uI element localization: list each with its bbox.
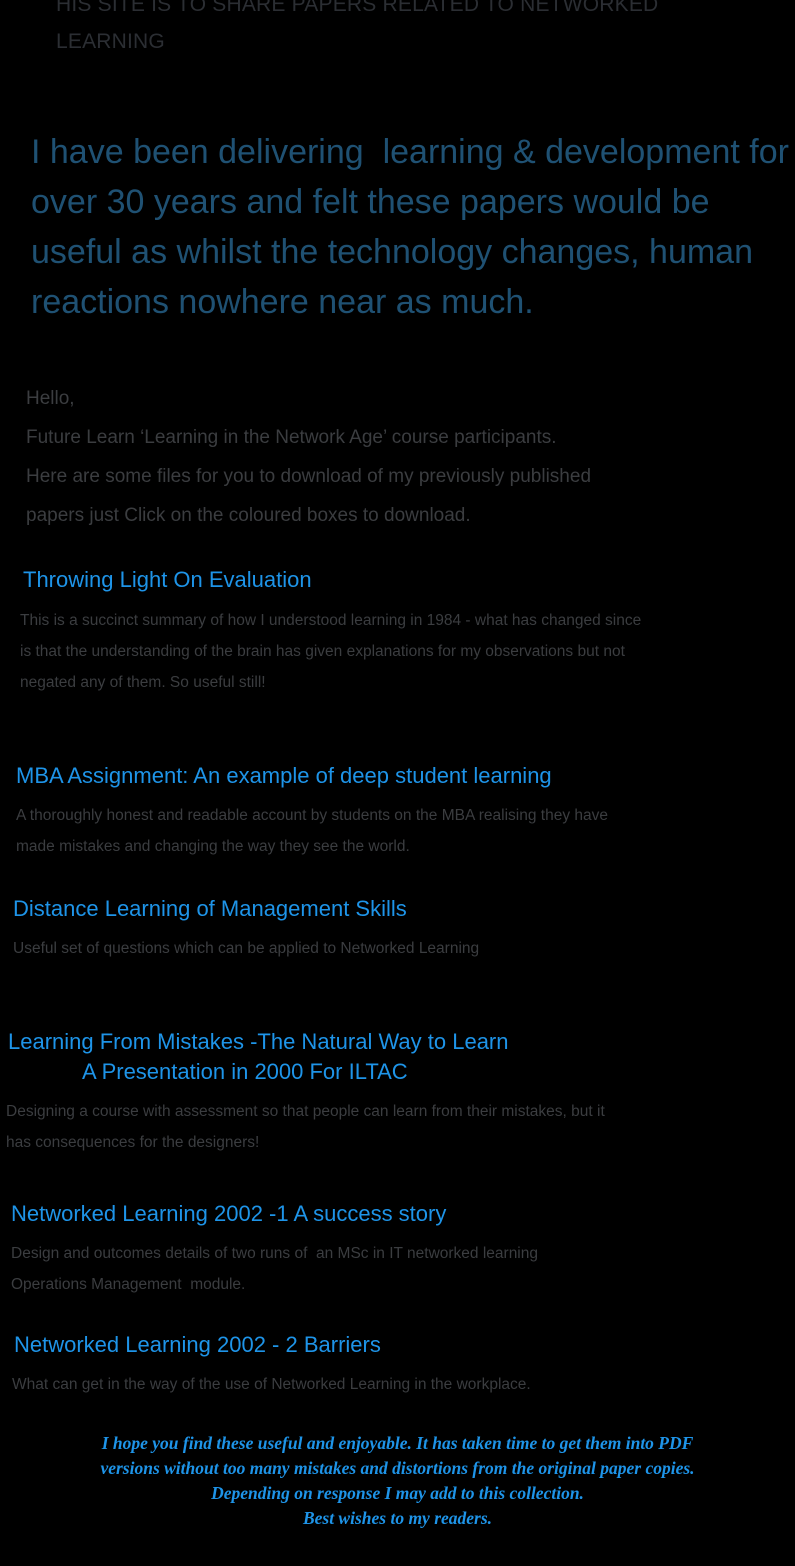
paper-link-title[interactable]: Throwing Light On Evaluation	[0, 565, 795, 595]
paper-description: What can get in the way of the use of Ne…	[0, 1369, 795, 1400]
paper-link-title[interactable]: MBA Assignment: An example of deep stude…	[0, 761, 795, 791]
closing-note: I hope you find these useful and enjoyab…	[0, 1431, 795, 1531]
site-purpose-strapline: HIS SITE IS TO SHARE PAPERS RELATED TO N…	[56, 0, 756, 60]
page-intro-heading: I have been delivering learning & develo…	[31, 127, 791, 327]
paper-section-networked-learning-2002-2-barriers: Networked Learning 2002 - 2 Barriers Wha…	[0, 1330, 795, 1400]
paper-section-throwing-light-on-evaluation: Throwing Light On Evaluation This is a s…	[0, 565, 795, 698]
paper-link-title[interactable]: Distance Learning of Management Skills	[0, 894, 795, 924]
greeting-paragraph: Hello, Future Learn ‘Learning in the Net…	[26, 379, 794, 535]
page-root: HIS SITE IS TO SHARE PAPERS RELATED TO N…	[0, 0, 795, 1566]
paper-link-subtitle[interactable]: A Presentation in 2000 For ILTAC	[0, 1057, 795, 1087]
paper-section-networked-learning-2002-1: Networked Learning 2002 -1 A success sto…	[0, 1199, 795, 1300]
paper-link-title[interactable]: Networked Learning 2002 -1 A success sto…	[0, 1199, 795, 1229]
paper-description: Design and outcomes details of two runs …	[0, 1238, 795, 1300]
paper-section-mba-assignment: MBA Assignment: An example of deep stude…	[0, 761, 795, 862]
paper-section-learning-from-mistakes: Learning From Mistakes -The Natural Way …	[0, 1027, 795, 1158]
paper-section-distance-learning-of-management-skills: Distance Learning of Management Skills U…	[0, 894, 795, 964]
paper-description: This is a succinct summary of how I unde…	[0, 605, 795, 698]
paper-link-title[interactable]: Learning From Mistakes -The Natural Way …	[0, 1027, 795, 1057]
paper-link-title[interactable]: Networked Learning 2002 - 2 Barriers	[0, 1330, 795, 1360]
paper-description: Designing a course with assessment so th…	[0, 1096, 795, 1158]
paper-description: Useful set of questions which can be app…	[0, 933, 795, 964]
paper-description: A thoroughly honest and readable account…	[0, 800, 795, 862]
